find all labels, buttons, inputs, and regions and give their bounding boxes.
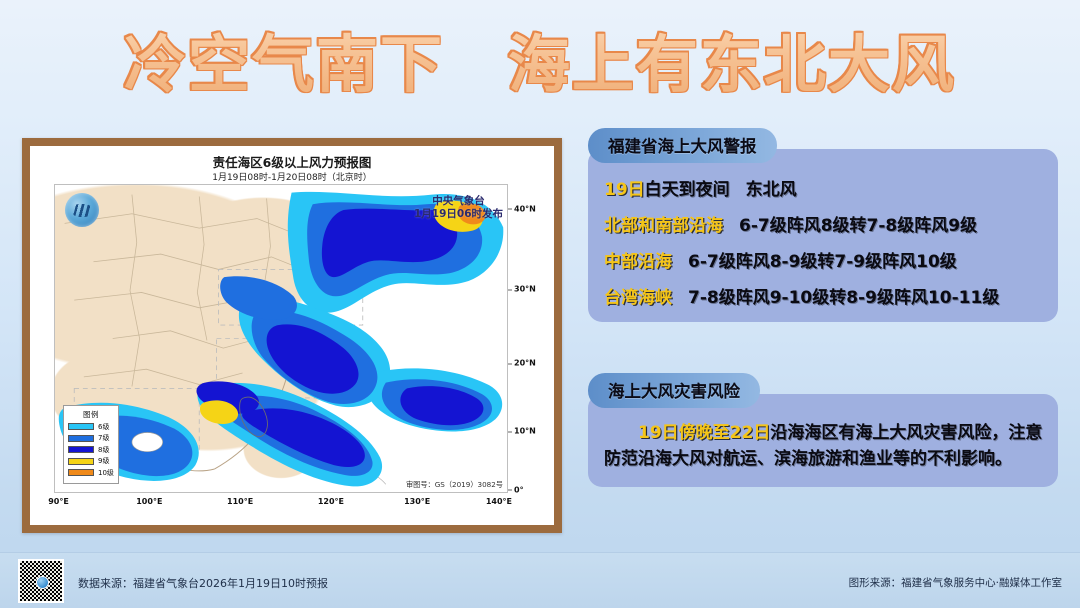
legend-item-7: 7级 [68,433,114,443]
warning-row-1-area: 北部和南部沿海 [604,216,723,236]
legend-item-6: 6级 [68,422,114,432]
warning-row-2-value: 6-7级阵风8-9级转7-9级阵风10级 [688,252,957,272]
x-tick-110e: 110°E [227,497,253,506]
x-tick-130e: 130°E [404,497,430,506]
legend-label-10: 10级 [98,468,114,478]
map-watermark-line2: 1月19日06时发布 [414,208,503,221]
footer-bar: 数据来源：福建省气象台2026年1月19日10时预报 图形来源：福建省气象服务中… [0,552,1080,608]
x-tick-140e: 140°E [486,497,512,506]
legend-swatch-10 [68,469,94,476]
warning-row-0-dir: 东北风 [746,180,797,200]
legend-item-8: 8级 [68,445,114,455]
data-source-text: 数据来源：福建省气象台2026年1月19日10时预报 [78,575,328,591]
map-watermark-line1: 中央气象台 [414,195,503,208]
x-tick-90e: 90°E [48,497,69,506]
legend-label-8: 8级 [98,445,109,455]
legend-label-6: 6级 [98,422,109,432]
warning-row-3: 台湾海峡7-8级阵风9-10级转8-9级阵风10-11级 [604,283,1044,308]
wind-warning-body: 19日白天到夜间东北风 北部和南部沿海6-7级阵风8级转7-8级阵风9级 中部沿… [588,149,1058,322]
map-x-axis: 90°E 100°E 110°E 120°E 130°E 140°E [54,497,508,511]
warning-row-0-period: 白天到夜间 [645,180,730,200]
legend-label-9: 9级 [98,456,109,466]
qr-code-icon[interactable] [18,559,64,603]
warning-row-1-value: 6-7级阵风8级转7-8级阵风9级 [739,216,977,236]
y-tick-20n: 20°N [514,359,536,368]
map-legend: 图例 6级 7级 8级 9级 [63,405,119,485]
map-subtitle: 1月19日08时-1月20日08时（北京时） [30,170,554,183]
legend-swatch-9 [68,458,94,465]
wind-warning-panel: 福建省海上大风警报 19日白天到夜间东北风 北部和南部沿海6-7级阵风8级转7-… [588,128,1058,322]
warning-row-3-area: 台湾海峡 [604,288,672,308]
disaster-risk-highlight: 19日傍晚至22日 [638,423,770,443]
legend-item-9: 9级 [68,456,114,466]
x-tick-100e: 100°E [136,497,162,506]
legend-swatch-6 [68,423,94,430]
map-plot-area: 中央气象台 1月19日06时发布 审图号：GS（2019）3082号 图例 6级… [54,184,508,493]
y-tick-40n: 40°N [514,204,536,213]
graphic-source-text: 图形来源：福建省气象服务中心·融媒体工作室 [849,575,1062,590]
warning-row-0-date: 19日 [604,180,645,200]
warning-row-2: 中部沿海6-7级阵风8-9级转7-9级阵风10级 [604,247,1044,272]
page-title: 冷空气南下 海上有东北大风 [124,14,956,104]
y-tick-30n: 30°N [514,285,536,294]
map-title: 责任海区6级以上风力预报图 [30,152,554,171]
warning-row-0: 19日白天到夜间东北风 [604,175,1044,200]
page-title-banner: 冷空气南下 海上有东北大风 [0,18,1080,100]
y-tick-10n: 10°N [514,427,536,436]
disaster-risk-panel: 海上大风灾害风险 19日傍晚至22日沿海海区有海上大风灾害风险，注意防范沿海大风… [588,373,1058,487]
legend-swatch-8 [68,446,94,453]
legend-title: 图例 [68,409,114,420]
warning-row-3-value: 7-8级阵风9-10级转8-9级阵风10-11级 [688,288,999,308]
legend-label-7: 7级 [98,433,109,443]
forecast-map-card: 责任海区6级以上风力预报图 1月19日08时-1月20日08时（北京时） [22,138,562,533]
disaster-risk-text: 19日傍晚至22日沿海海区有海上大风灾害风险，注意防范沿海大风对航运、滨海旅游和… [604,420,1044,473]
map-approval-number: 审图号：GS（2019）3082号 [406,480,503,490]
cma-logo-icon [65,193,99,227]
wind-force-field-layer [55,185,507,492]
legend-item-10: 10级 [68,468,114,478]
map-watermark: 中央气象台 1月19日06时发布 [414,195,503,221]
wind-warning-header: 福建省海上大风警报 [588,128,777,163]
warning-row-2-area: 中部沿海 [604,252,672,272]
warning-row-1: 北部和南部沿海6-7级阵风8级转7-8级阵风9级 [604,211,1044,236]
disaster-risk-header: 海上大风灾害风险 [588,373,760,408]
map-y-axis: 40°N 30°N 20°N 10°N 0° [508,184,548,493]
forecast-map: 责任海区6级以上风力预报图 1月19日08时-1月20日08时（北京时） [30,146,554,525]
y-tick-0: 0° [514,485,524,494]
legend-swatch-7 [68,435,94,442]
x-tick-120e: 120°E [318,497,344,506]
